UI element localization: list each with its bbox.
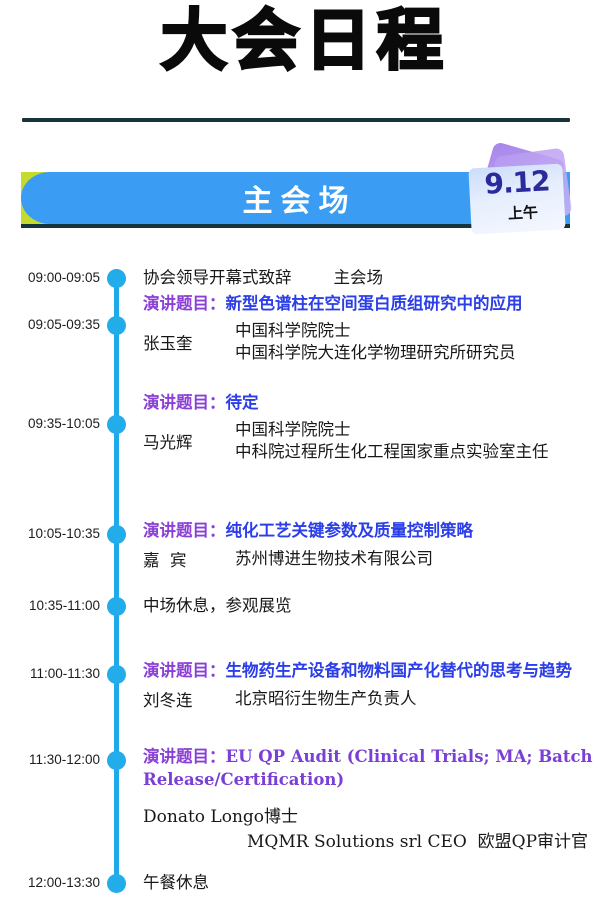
talk-speaker-block: 刘冬连北京昭衍生物生产负责人: [143, 687, 605, 711]
talk-topic-line: 演讲题目：生物药生产设备和物料国产化替代的思考与趋势: [143, 660, 605, 683]
row-time: 10:35-11:00: [0, 598, 100, 613]
page-title: 大会日程: [0, 8, 610, 74]
row-time: 09:00-09:05: [0, 270, 100, 285]
row-plain-text: 中场休息，参观展览: [143, 595, 605, 617]
date-number: 9.12: [469, 164, 565, 202]
row-plain-text: 午餐休息: [143, 872, 605, 894]
talk-speaker-affiliation: 苏州博进生物技术有限公司: [235, 548, 433, 570]
row-time: 12:00-13:30: [0, 875, 100, 890]
row-content: 演讲题目：新型色谱柱在空间蛋白质组研究中的应用张玉奎中国科学院院士 中国科学院大…: [143, 293, 605, 363]
talk-speaker-block: 张玉奎中国科学院院士 中国科学院大连化学物理研究所研究员: [143, 320, 605, 364]
talk-topic-title: 生物药生产设备和物料国产化替代的思考与趋势: [226, 661, 573, 680]
talk-speaker-name: 嘉 宾: [143, 547, 235, 571]
talk-topic-title: 新型色谱柱在空间蛋白质组研究中的应用: [226, 294, 523, 313]
row-time: 10:05-10:35: [0, 526, 100, 541]
talk-speaker-affiliation: 北京昭衍生物生产负责人: [235, 688, 417, 710]
talk-topic-title: 待定: [226, 393, 259, 412]
talk-speaker-name: 张玉奎: [143, 330, 235, 354]
schedule-timeline: 09:00-09:05协会领导开幕式致辞 主会场09:05-09:35演讲题目：…: [0, 250, 610, 899]
row-content: 演讲题目：EU QP Audit (Clinical Trials; MA; B…: [143, 746, 609, 852]
talk-speaker-name: 刘冬连: [143, 687, 235, 711]
talk-topic-line: 演讲题目：新型色谱柱在空间蛋白质组研究中的应用: [143, 293, 605, 316]
talk-topic-label: 演讲题目：: [143, 294, 226, 313]
timeline-dot: [107, 665, 126, 684]
row-content: 演讲题目：待定马光辉中国科学院院士 中科院过程所生化工程国家重点实验室主任: [143, 392, 605, 462]
row-content: 中场休息，参观展览: [143, 595, 605, 617]
schedule-page: 大会日程 主会场 9.12 上午 09:00-09:05协会领导开幕式致辞 主会…: [0, 0, 610, 899]
row-content: 演讲题目：生物药生产设备和物料国产化替代的思考与趋势刘冬连北京昭衍生物生产负责人: [143, 660, 605, 711]
row-time: 09:35-10:05: [0, 416, 100, 431]
talk-speaker-affiliation: 中国科学院院士 中国科学院大连化学物理研究所研究员: [235, 320, 516, 364]
talk-topic-label: 演讲题目：: [143, 521, 226, 540]
timeline-dot: [107, 525, 126, 544]
timeline-dot: [107, 415, 126, 434]
talk-topic-label: 演讲题目：: [143, 661, 226, 680]
timeline-dot: [107, 874, 126, 893]
row-time: 09:05-09:35: [0, 317, 100, 332]
date-badge: 9.12 上午: [466, 150, 586, 236]
talk-topic-line: 演讲题目：纯化工艺关键参数及质量控制策略: [143, 520, 605, 543]
timeline-dot: [107, 316, 126, 335]
talk-topic-line: 演讲题目：EU QP Audit (Clinical Trials; MA; B…: [143, 746, 609, 792]
talk-topic-label: 演讲题目：: [143, 393, 226, 412]
talk-speaker-name: Donato Longo博士: [143, 802, 609, 827]
talk-speaker-block: 马光辉中国科学院院士 中科院过程所生化工程国家重点实验室主任: [143, 419, 605, 463]
row-time: 11:30-12:00: [0, 752, 100, 767]
row-content: 午餐休息: [143, 872, 605, 894]
row-time: 11:00-11:30: [0, 666, 100, 681]
page-title-text: 大会日程: [161, 2, 449, 79]
row-content: 协会领导开幕式致辞 主会场: [143, 267, 605, 289]
timeline-dot: [107, 269, 126, 288]
timeline-dot: [107, 751, 126, 770]
header-divider: [22, 118, 570, 122]
talk-speaker-affiliation: MQMR Solutions srl CEO 欧盟QP审计官: [247, 827, 609, 852]
timeline-axis: [114, 276, 119, 884]
timeline-dot: [107, 597, 126, 616]
talk-topic-title: 纯化工艺关键参数及质量控制策略: [226, 521, 474, 540]
talk-speaker-block: 嘉 宾苏州博进生物技术有限公司: [143, 547, 605, 571]
talk-speaker-name: 马光辉: [143, 429, 235, 453]
row-content: 演讲题目：纯化工艺关键参数及质量控制策略嘉 宾苏州博进生物技术有限公司: [143, 520, 605, 571]
row-plain-text: 协会领导开幕式致辞 主会场: [143, 267, 605, 289]
talk-topic-label: 演讲题目：: [143, 747, 226, 766]
talk-speaker-affiliation: 中国科学院院士 中科院过程所生化工程国家重点实验室主任: [235, 419, 549, 463]
talk-topic-line: 演讲题目：待定: [143, 392, 605, 415]
